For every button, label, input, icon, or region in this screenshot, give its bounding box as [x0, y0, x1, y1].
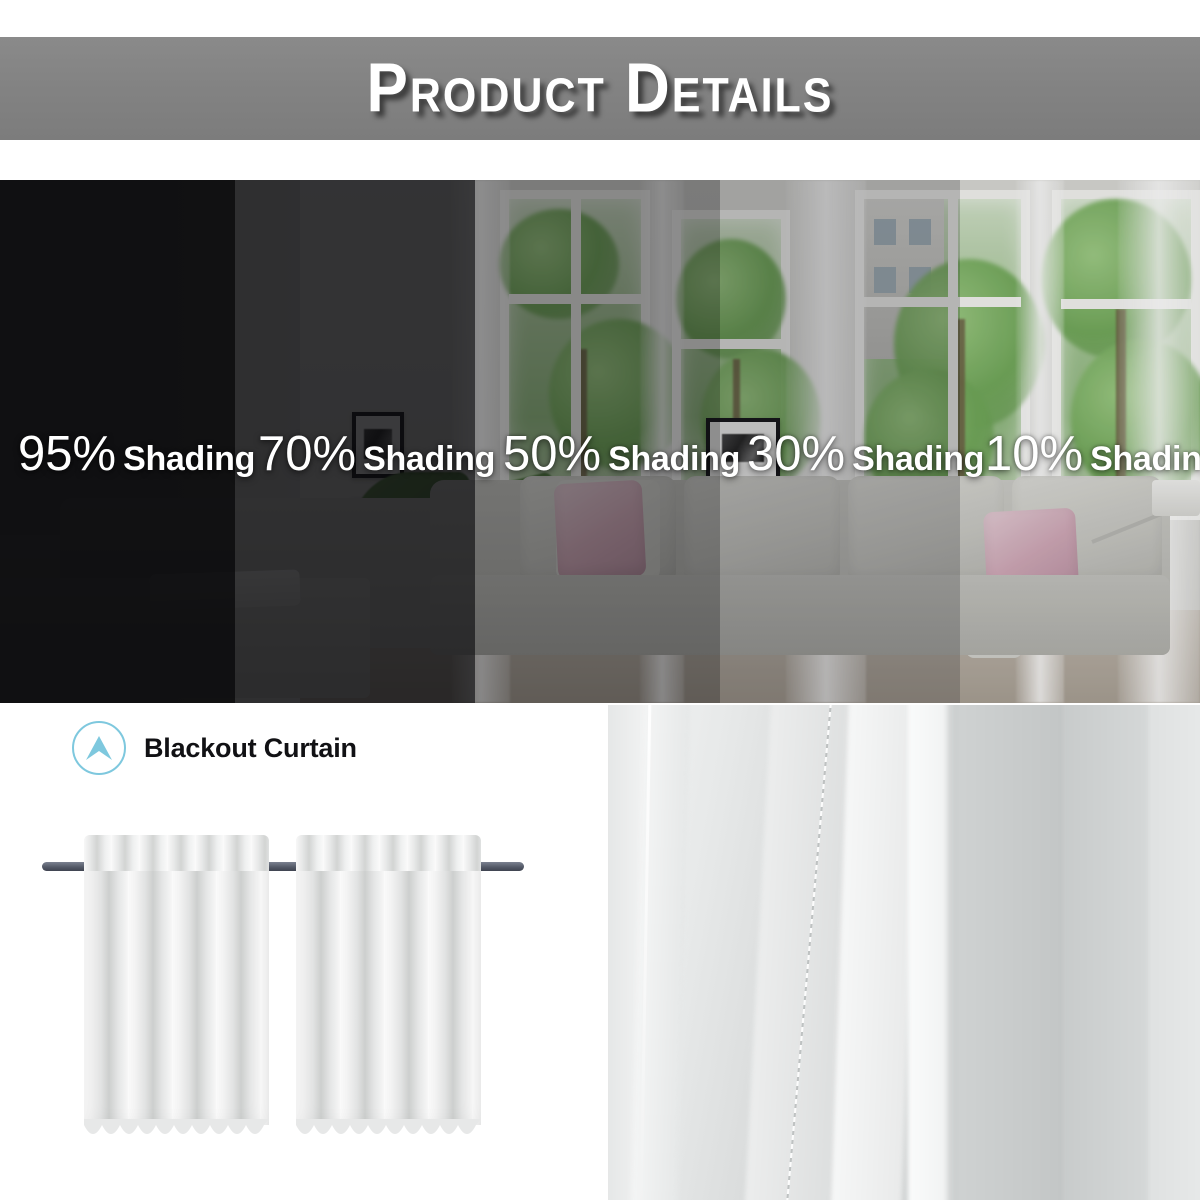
shading-band-70: [235, 180, 475, 703]
curtain-pair-photo: [0, 823, 608, 1163]
shading-band-30: [720, 180, 960, 703]
shading-band-95: [0, 180, 235, 703]
curtain-panel-left-hem: [80, 1119, 273, 1149]
fabric-fold-8: [1148, 705, 1200, 1200]
shading-band-10: [960, 180, 1200, 703]
shading-bands-overlay: [0, 180, 1200, 703]
curtain-panel-right-header: [296, 835, 481, 871]
curtain-fabric-closeup-photo: [608, 705, 1200, 1200]
blackout-curtain-section: Blackout Curtain: [0, 703, 608, 1200]
blackout-curtain-label: Blackout Curtain: [144, 733, 357, 764]
fabric-shadow-crease: [948, 705, 953, 1200]
curtain-panel-left-fabric: [84, 835, 269, 1125]
header-banner: Product Details: [0, 37, 1200, 140]
curtain-panel-right-fabric: [296, 835, 481, 1125]
blackout-curtain-badge: Blackout Curtain: [72, 721, 357, 775]
product-details-page: Product Details: [0, 0, 1200, 1200]
shading-band-50: [475, 180, 720, 703]
fabric-fold-6: [953, 705, 1073, 1200]
curtain-panel-right: [296, 835, 481, 1125]
fabric-fold-7: [1063, 705, 1158, 1200]
curtain-panel-left-header: [84, 835, 269, 871]
page-title: Product Details: [367, 49, 834, 129]
curtain-panel-right-hem: [292, 1119, 485, 1149]
curtain-panel-left: [84, 835, 269, 1125]
shading-comparison-photo: 95% Shading 70% Shading 50% Shading 30% …: [0, 180, 1200, 703]
up-arrow-circle-icon: [72, 721, 126, 775]
